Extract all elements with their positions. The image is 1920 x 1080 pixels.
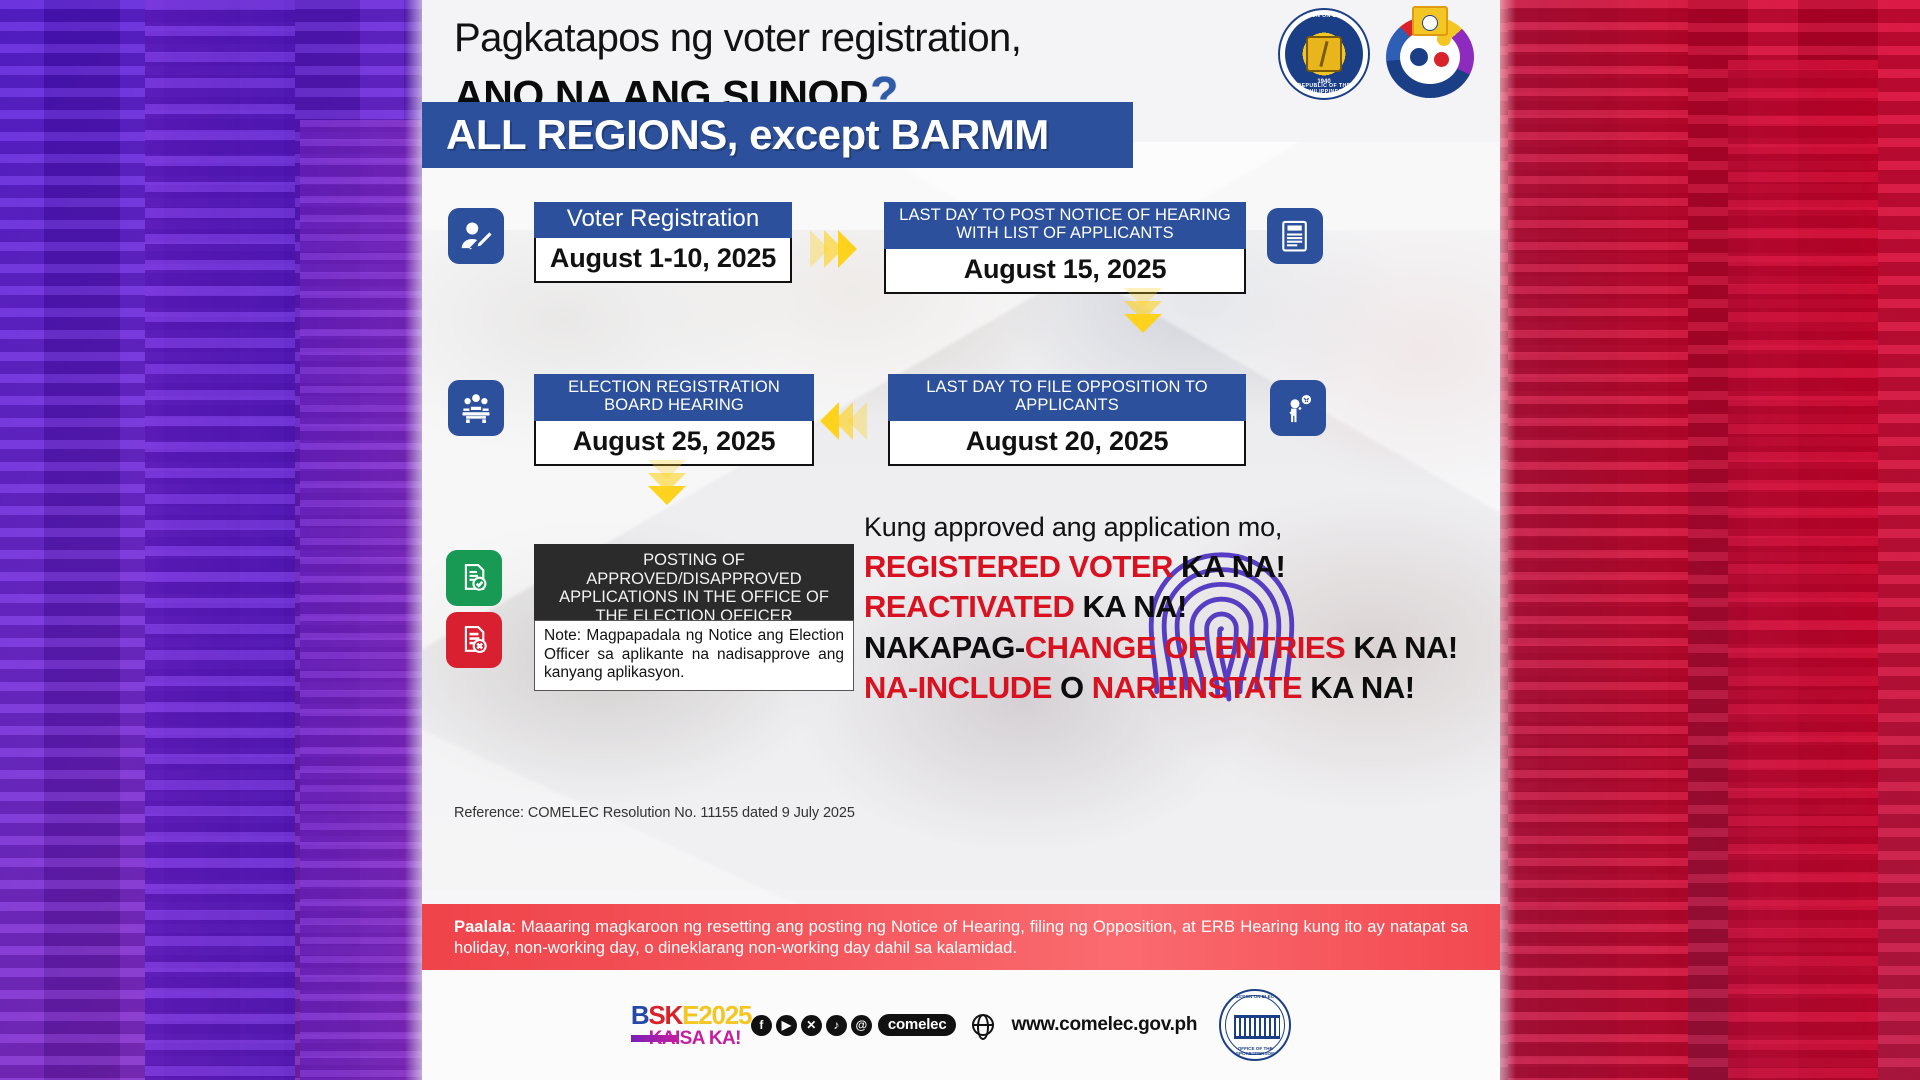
- approved-line-3-red: CHANGE OF ENTRIES: [1025, 630, 1345, 665]
- social-handle[interactable]: comelec: [878, 1014, 957, 1036]
- voter-registration-icon: [448, 208, 504, 264]
- step3-date: August 20, 2025: [888, 421, 1246, 466]
- right-building-3: [1728, 60, 1878, 1080]
- step4-card: ELECTION REGISTRATION BOARD HEARING Augu…: [534, 374, 814, 466]
- flow-arrow-left-1: [820, 402, 867, 440]
- region-banner-label: ALL REGIONS, except BARMM: [446, 111, 1049, 159]
- infographic-poster: Pagkatapos ng voter registration, ANO NA…: [422, 0, 1500, 1080]
- paalala-banner: Paalala: Maaaring magkaroon ng resetting…: [422, 904, 1500, 970]
- office-seal-top-text: COMMISSION ON ELECTIONS: [1221, 994, 1289, 999]
- bske-2025-logo: BSKE2025 KAISA KA!: [631, 1002, 741, 1048]
- erb-hearing-board-icon: [448, 380, 504, 436]
- process-flow: Voter Registration August 1-10, 2025 LAS…: [422, 180, 1500, 880]
- approved-line-4-red2: NAREINSTATE: [1092, 670, 1302, 705]
- approved-line-4-mid: O: [1052, 670, 1092, 705]
- approved-document-icon: [446, 550, 502, 606]
- website-url[interactable]: www.comelec.gov.ph: [1011, 1014, 1197, 1036]
- threads-icon[interactable]: @: [851, 1015, 872, 1036]
- step2-card: LAST DAY TO POST NOTICE OF HEARING WITH …: [884, 202, 1246, 294]
- approved-lead: Kung approved ang application mo,: [864, 512, 1484, 543]
- paalala-label: Paalala: [454, 917, 511, 936]
- approved-results-block: Kung approved ang application mo, REGIST…: [864, 512, 1484, 708]
- region-banner: ALL REGIONS, except BARMM: [422, 102, 1133, 168]
- step3-caption: LAST DAY TO FILE OPPOSITION TO APPLICANT…: [888, 374, 1246, 421]
- flow-arrow-down-right: [1124, 288, 1162, 333]
- comelec-office-seal: COMMISSION ON ELECTIONS OFFICE OF THE SP…: [1219, 989, 1291, 1061]
- header-subtitle: Pagkatapos ng voter registration,: [454, 16, 1021, 61]
- opposition-person-icon: [1270, 380, 1326, 436]
- step1-card: Voter Registration August 1-10, 2025: [534, 202, 792, 283]
- notice-document-icon: [1267, 208, 1323, 264]
- poster-footer: BSKE2025 KAISA KA! f ▶ ✕ ♪ @ comelec www…: [422, 970, 1500, 1080]
- x-twitter-icon[interactable]: ✕: [801, 1015, 822, 1036]
- disapproved-document-icon: [446, 612, 502, 668]
- youtube-icon[interactable]: ▶: [776, 1015, 797, 1036]
- step4-date: August 25, 2025: [534, 421, 814, 466]
- step1-caption: Voter Registration: [534, 202, 792, 238]
- facebook-icon[interactable]: f: [751, 1015, 772, 1036]
- paalala-text-wrap: Paalala: Maaaring magkaroon ng resetting…: [422, 916, 1500, 958]
- posting-note: Note: Magpapadala ng Notice ang Election…: [534, 620, 854, 691]
- approved-line-2-red: REACTIVATED: [864, 589, 1074, 624]
- seal-top-text: COMMISSION ON ELECTIONS: [1280, 13, 1368, 19]
- approved-line-1-black: KA NA!: [1173, 549, 1285, 584]
- tiktok-icon[interactable]: ♪: [826, 1015, 847, 1036]
- step1-date: August 1-10, 2025: [534, 238, 792, 283]
- step2-date: August 15, 2025: [884, 249, 1246, 294]
- left-background-photo: [0, 0, 432, 1080]
- globe-icon: [972, 1014, 994, 1036]
- right-background-photo: [1488, 0, 1920, 1080]
- step2-caption: LAST DAY TO POST NOTICE OF HEARING WITH …: [884, 202, 1246, 249]
- approved-line-2-black: KA NA!: [1074, 589, 1186, 624]
- seal-bottom-text: REPUBLIC OF THE PHILIPPINES: [1280, 83, 1368, 95]
- paalala-body: : Maaaring magkaroon ng resetting ang po…: [454, 917, 1468, 957]
- step4-caption: ELECTION REGISTRATION BOARD HEARING: [534, 374, 814, 421]
- approved-line-4-black: KA NA!: [1302, 670, 1414, 705]
- step3-card: LAST DAY TO FILE OPPOSITION TO APPLICANT…: [888, 374, 1246, 466]
- kaisa-ka-logo: [1384, 8, 1476, 100]
- bske-wordmark: BSKE2025: [631, 1002, 741, 1028]
- header-logos: COMMISSION ON ELECTIONS 1940 REPUBLIC OF…: [1278, 8, 1476, 100]
- approved-line-2: REACTIVATED KA NA!: [864, 587, 1484, 627]
- comelec-seal-logo: COMMISSION ON ELECTIONS 1940 REPUBLIC OF…: [1278, 8, 1370, 100]
- bske-e2025: E2025: [682, 1000, 751, 1030]
- flow-arrow-right-1: [810, 230, 857, 268]
- office-seal-bottom-text: OFFICE OF THE SPOKESPERSON: [1221, 1046, 1289, 1056]
- approved-line-3-prefix: NAKAPAG-: [864, 630, 1025, 665]
- approved-line-1: REGISTERED VOTER KA NA!: [864, 547, 1484, 587]
- bske-letters-sk: SK: [648, 1000, 682, 1030]
- approved-line-3: NAKAPAG-CHANGE OF ENTRIES KA NA!: [864, 628, 1484, 668]
- approved-line-1-red: REGISTERED VOTER: [864, 549, 1173, 584]
- left-building-2: [145, 0, 295, 1080]
- approved-line-3-black: KA NA!: [1345, 630, 1457, 665]
- reference-text: Reference: COMELEC Resolution No. 11155 …: [454, 805, 855, 821]
- right-building-2: [1508, 0, 1688, 1080]
- approved-line-4-red: NA-INCLUDE: [864, 670, 1052, 705]
- social-links[interactable]: f ▶ ✕ ♪ @ comelec: [751, 1014, 957, 1036]
- flow-arrow-down-left: [648, 460, 686, 505]
- approved-line-4: NA-INCLUDE O NAREINSTATE KA NA!: [864, 668, 1484, 708]
- bske-letter-b: B: [631, 1000, 649, 1030]
- bske-underline: [631, 1035, 678, 1042]
